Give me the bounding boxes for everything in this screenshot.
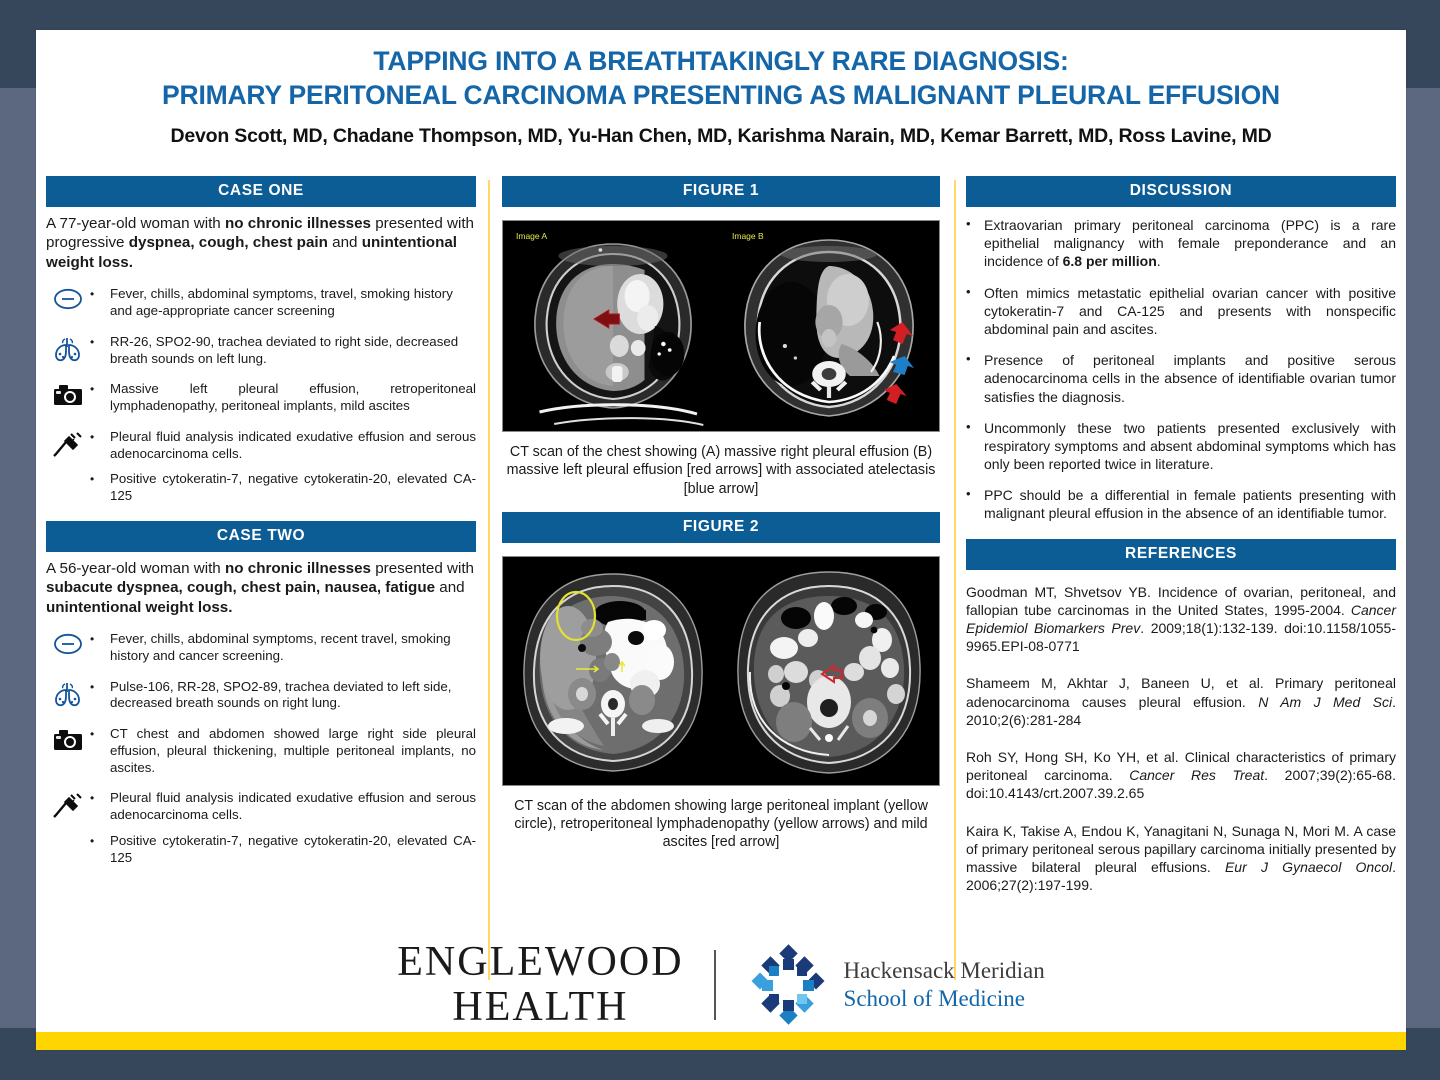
section-header-discussion: DISCUSSION bbox=[966, 176, 1396, 207]
reference-journal: N Am J Med Sci bbox=[1258, 694, 1392, 710]
ct-image-b-label: Image B bbox=[732, 231, 764, 241]
finding-icon bbox=[46, 334, 90, 362]
finding-subrow: •Positive cytokeratin-7, negative cytoke… bbox=[46, 833, 476, 867]
poster-canvas: TAPPING INTO A BREATHTAKINGLY RARE DIAGN… bbox=[36, 30, 1406, 1050]
finding-body: •Massive left pleural effusion, retroper… bbox=[90, 381, 476, 415]
ct-abdomen-right bbox=[724, 562, 934, 780]
finding-bullet: •Positive cytokeratin-7, negative cytoke… bbox=[90, 833, 476, 867]
figure-two-image bbox=[502, 556, 940, 786]
finding-text: Pleural fluid analysis indicated exudati… bbox=[110, 790, 476, 824]
finding-bullet: •Pleural fluid analysis indicated exudat… bbox=[90, 429, 476, 463]
ct-chest-b-graphic bbox=[724, 226, 934, 426]
finding-text: Positive cytokeratin-7, negative cytoker… bbox=[110, 833, 476, 867]
finding-icon bbox=[46, 679, 90, 707]
discussion-text: Uncommonly these two patients presented … bbox=[984, 419, 1396, 474]
finding-row: •Massive left pleural effusion, retroper… bbox=[46, 381, 476, 415]
discussion-item: •Presence of peritoneal implants and pos… bbox=[966, 351, 1396, 406]
finding-bullet: •Massive left pleural effusion, retroper… bbox=[90, 381, 476, 415]
poster-header: TAPPING INTO A BREATHTAKINGLY RARE DIAGN… bbox=[36, 30, 1406, 148]
finding-bullet: •Positive cytokeratin-7, negative cytoke… bbox=[90, 471, 476, 505]
finding-icon bbox=[46, 726, 90, 752]
englewood-logo-line-1: ENGLEWOOD bbox=[397, 940, 683, 985]
section-header-case-two: CASE TWO bbox=[46, 521, 476, 552]
bullet-marker: • bbox=[90, 631, 110, 648]
finding-body: •CT chest and abdomen showed large right… bbox=[90, 726, 476, 776]
finding-body: •Pleural fluid analysis indicated exudat… bbox=[90, 790, 476, 824]
finding-icon bbox=[46, 631, 90, 655]
finding-text: Fever, chills, abdominal symptoms, recen… bbox=[110, 631, 476, 665]
finding-bullet: •CT chest and abdomen showed large right… bbox=[90, 726, 476, 776]
finding-body: •Fever, chills, abdominal symptoms, trav… bbox=[90, 286, 476, 320]
figure-two-caption: CT scan of the abdomen showing large per… bbox=[502, 797, 940, 852]
footer-accent-bar bbox=[36, 1032, 1406, 1050]
lungs-icon bbox=[53, 681, 83, 707]
finding-row: •Pleural fluid analysis indicated exudat… bbox=[46, 790, 476, 824]
bullet-marker: • bbox=[90, 381, 110, 398]
finding-body: •RR-26, SPO2-90, trachea deviated to rig… bbox=[90, 334, 476, 368]
finding-row: •Fever, chills, abdominal symptoms, rece… bbox=[46, 631, 476, 665]
ct-abdomen-right-graphic bbox=[724, 562, 934, 780]
finding-row: •CT chest and abdomen showed large right… bbox=[46, 726, 476, 776]
bullet-marker: • bbox=[966, 216, 984, 233]
bullet-marker: • bbox=[90, 429, 110, 446]
section-header-figure-one: FIGURE 1 bbox=[502, 176, 940, 207]
finding-text: Massive left pleural effusion, retroperi… bbox=[110, 381, 476, 415]
discussion-text: Often mimics metastatic epithelial ovari… bbox=[984, 284, 1396, 339]
lungs-icon bbox=[53, 336, 83, 362]
finding-icon bbox=[46, 286, 90, 310]
reference-journal: Cancer Epidemiol Biomarkers Prev bbox=[966, 602, 1396, 636]
finding-text: RR-26, SPO2-90, trachea deviated to righ… bbox=[110, 334, 476, 368]
section-header-references: REFERENCES bbox=[966, 539, 1396, 570]
discussion-text: PPC should be a differential in female p… bbox=[984, 486, 1396, 522]
finding-row: •Pleural fluid analysis indicated exudat… bbox=[46, 429, 476, 463]
discussion-item: •Extraovarian primary peritoneal carcino… bbox=[966, 216, 1396, 271]
finding-row: •Pulse-106, RR-28, SPO2-89, trachea devi… bbox=[46, 679, 476, 713]
reference-journal: Eur J Gynaecol Oncol bbox=[1225, 859, 1392, 875]
englewood-logo-line-2: HEALTH bbox=[397, 985, 683, 1030]
finding-row: •Fever, chills, abdominal symptoms, trav… bbox=[46, 286, 476, 320]
hackensack-logo-line-1: Hackensack Meridian bbox=[844, 957, 1045, 985]
discussion-item: •Uncommonly these two patients presented… bbox=[966, 419, 1396, 474]
author-list: Devon Scott, MD, Chadane Thompson, MD, Y… bbox=[66, 125, 1376, 148]
case-two-intro: A 56-year-old woman with no chronic illn… bbox=[46, 559, 476, 617]
finding-bullet: •RR-26, SPO2-90, trachea deviated to rig… bbox=[90, 334, 476, 368]
finding-subrow: •Positive cytokeratin-7, negative cytoke… bbox=[46, 471, 476, 505]
finding-body: •Pleural fluid analysis indicated exudat… bbox=[90, 429, 476, 463]
syringe-icon bbox=[53, 792, 83, 818]
ct-image-a-label: Image A bbox=[516, 231, 547, 241]
page-title-line-2: PRIMARY PERITONEAL CARCINOMA PRESENTING … bbox=[66, 78, 1376, 112]
finding-text: CT chest and abdomen showed large right … bbox=[110, 726, 476, 776]
hackensack-logo-line-2: School of Medicine bbox=[844, 985, 1045, 1013]
syringe-icon bbox=[53, 431, 83, 457]
finding-text: Positive cytokeratin-7, negative cytoker… bbox=[110, 471, 476, 505]
discussion-text: Presence of peritoneal implants and posi… bbox=[984, 351, 1396, 406]
hackensack-meridian-logo: Hackensack Meridian School of Medicine bbox=[746, 943, 1045, 1027]
column-right: DISCUSSION •Extraovarian primary periton… bbox=[954, 176, 1406, 996]
bullet-marker: • bbox=[966, 351, 984, 368]
bullet-marker: • bbox=[966, 284, 984, 301]
camera-icon bbox=[53, 383, 83, 407]
bullet-marker: • bbox=[90, 471, 110, 488]
bullet-marker: • bbox=[90, 679, 110, 696]
figure-one-caption: CT scan of the chest showing (A) massive… bbox=[502, 443, 940, 498]
ct-chest-image-a: Image A bbox=[508, 226, 718, 426]
ct-chest-image-b: Image B bbox=[724, 226, 934, 426]
finding-body: •Fever, chills, abdominal symptoms, rece… bbox=[90, 631, 476, 665]
reference-item: Roh SY, Hong SH, Ko YH, et al. Clinical … bbox=[966, 748, 1396, 803]
bullet-marker: • bbox=[90, 726, 110, 743]
ct-chest-a-graphic bbox=[508, 226, 718, 426]
bullet-marker: • bbox=[966, 419, 984, 436]
case-one-findings: •Fever, chills, abdominal symptoms, trav… bbox=[46, 286, 476, 505]
bullet-marker: • bbox=[90, 790, 110, 807]
finding-text: Pleural fluid analysis indicated exudati… bbox=[110, 429, 476, 463]
bullet-marker: • bbox=[90, 286, 110, 303]
discussion-item: •Often mimics metastatic epithelial ovar… bbox=[966, 284, 1396, 339]
finding-icon bbox=[46, 429, 90, 457]
bullet-marker: • bbox=[966, 486, 984, 503]
reference-item: Kaira K, Takise A, Endou K, Yanagitani N… bbox=[966, 822, 1396, 895]
reference-item: Goodman MT, Shvetsov YB. Incidence of ov… bbox=[966, 583, 1396, 656]
minus-circle-icon bbox=[53, 633, 83, 655]
poster-columns: CASE ONE A 77-year-old woman with no chr… bbox=[36, 176, 1406, 996]
figure-one-image: Image A bbox=[502, 220, 940, 432]
finding-text: Pulse-106, RR-28, SPO2-89, trachea devia… bbox=[110, 679, 476, 713]
references-list: Goodman MT, Shvetsov YB. Incidence of ov… bbox=[966, 583, 1396, 895]
ct-abdomen-left-graphic bbox=[508, 562, 718, 780]
column-left: CASE ONE A 77-year-old woman with no chr… bbox=[36, 176, 488, 996]
ct-abdomen-left bbox=[508, 562, 718, 780]
finding-bullet: •Fever, chills, abdominal symptoms, trav… bbox=[90, 286, 476, 320]
finding-bullet: •Pleural fluid analysis indicated exudat… bbox=[90, 790, 476, 824]
finding-bullet: •Pulse-106, RR-28, SPO2-89, trachea devi… bbox=[90, 679, 476, 713]
page-title-line-1: TAPPING INTO A BREATHTAKINGLY RARE DIAGN… bbox=[66, 44, 1376, 78]
logo-divider bbox=[714, 950, 716, 1020]
discussion-text: Extraovarian primary peritoneal carcinom… bbox=[984, 216, 1396, 271]
bullet-marker: • bbox=[90, 334, 110, 351]
finding-body: •Pulse-106, RR-28, SPO2-89, trachea devi… bbox=[90, 679, 476, 713]
reference-item: Shameem M, Akhtar J, Baneen U, et al. Pr… bbox=[966, 674, 1396, 729]
finding-icon bbox=[46, 790, 90, 818]
bullet-marker: • bbox=[90, 833, 110, 850]
discussion-list: •Extraovarian primary peritoneal carcino… bbox=[966, 216, 1396, 523]
finding-text: Fever, chills, abdominal symptoms, trave… bbox=[110, 286, 476, 320]
finding-row: •RR-26, SPO2-90, trachea deviated to rig… bbox=[46, 334, 476, 368]
finding-bullet: •Fever, chills, abdominal symptoms, rece… bbox=[90, 631, 476, 665]
camera-icon bbox=[53, 728, 83, 752]
englewood-health-logo: ENGLEWOOD HEALTH bbox=[397, 940, 683, 1031]
reference-journal: Cancer Res Treat bbox=[1129, 767, 1264, 783]
finding-icon bbox=[46, 381, 90, 407]
column-middle: FIGURE 1 Image A bbox=[488, 176, 954, 996]
case-one-intro: A 77-year-old woman with no chronic illn… bbox=[46, 214, 476, 272]
minus-circle-icon bbox=[53, 288, 83, 310]
section-header-figure-two: FIGURE 2 bbox=[502, 512, 940, 543]
hackensack-diamond-mark-icon bbox=[746, 943, 830, 1027]
discussion-item: •PPC should be a differential in female … bbox=[966, 486, 1396, 522]
footer-logos: ENGLEWOOD HEALTH bbox=[36, 942, 1406, 1028]
case-two-findings: •Fever, chills, abdominal symptoms, rece… bbox=[46, 631, 476, 866]
section-header-case-one: CASE ONE bbox=[46, 176, 476, 207]
